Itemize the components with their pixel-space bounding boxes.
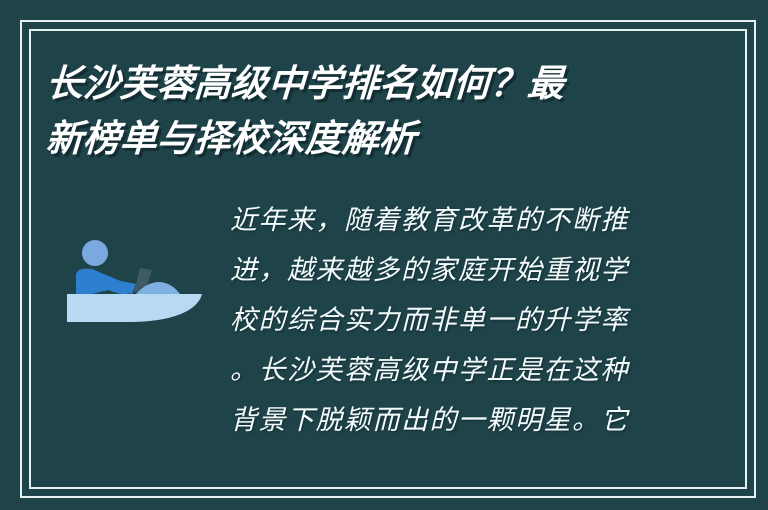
speedboat-icon: [62, 236, 207, 331]
icon-hull: [67, 294, 202, 322]
icon-person-head: [82, 240, 108, 266]
page-title: 长沙芙蓉高级中学排名如何？最 新榜单与择校深度解析: [46, 56, 626, 166]
title-line-1: 长沙芙蓉高级中学排名如何？最: [45, 56, 628, 111]
title-line-2: 新榜单与择校深度解析: [45, 111, 628, 166]
body-line-3: 校的综合实力而非单一的升学率: [230, 296, 666, 346]
body-line-4: 。长沙芙蓉高级中学正是在这种: [230, 346, 666, 396]
article-body: 近年来，随着教育改革的不断推 进，越来越多的家庭开始重视学 校的综合实力而非单一…: [230, 196, 666, 446]
body-line-1: 近年来，随着教育改革的不断推: [230, 196, 666, 246]
body-line-5: 背景下脱颖而出的一颗明星。它: [230, 396, 666, 446]
article-cover-card: 长沙芙蓉高级中学排名如何？最 新榜单与择校深度解析 近年来，随着教育改革的不断推…: [0, 0, 768, 510]
body-line-2: 进，越来越多的家庭开始重视学: [230, 246, 666, 296]
